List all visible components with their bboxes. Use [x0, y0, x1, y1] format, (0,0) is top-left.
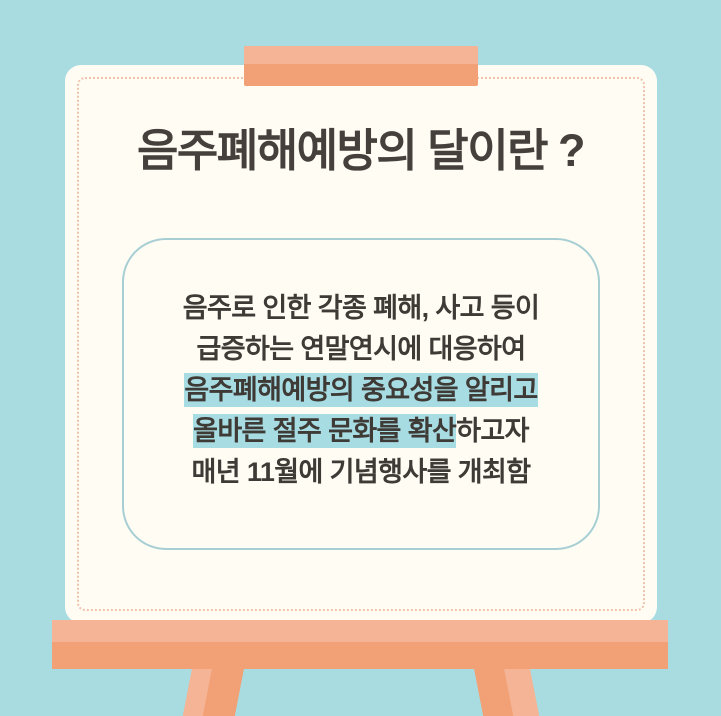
body-line-3: 음주폐해예방의 중요성을 알리고	[122, 370, 600, 411]
easel-tray	[52, 620, 668, 669]
body-line-5: 매년 11월에 기념행사를 개최함	[122, 452, 600, 493]
body-line-3-highlight: 음주폐해예방의 중요성을 알리고	[184, 373, 537, 407]
body-line-1: 음주로 인한 각종 폐해, 사고 등이	[122, 288, 600, 329]
body-line-4-highlight: 올바른 절주 문화를 확산	[193, 414, 456, 448]
body-text-block: 음주로 인한 각종 폐해, 사고 등이 급증하는 연말연시에 대응하여 음주폐해…	[122, 288, 600, 493]
clip-highlight	[244, 46, 478, 64]
clip-icon	[244, 46, 478, 86]
body-line-1-text: 음주로 인한 각종 폐해, 사고 등이	[183, 293, 540, 323]
poster-canvas: 음주폐해예방의 달이란 ? 음주로 인한 각종 폐해, 사고 등이 급증하는 연…	[0, 0, 721, 716]
body-line-2: 급증하는 연말연시에 대응하여	[122, 329, 600, 370]
body-line-4-rest: 하고자	[456, 416, 529, 446]
body-line-2-text: 급증하는 연말연시에 대응하여	[197, 334, 526, 364]
easel-tray-highlight	[52, 620, 668, 642]
page-title: 음주폐해예방의 달이란 ?	[0, 124, 721, 178]
body-line-5-text: 매년 11월에 기념행사를 개최함	[192, 457, 531, 487]
body-line-4: 올바른 절주 문화를 확산하고자	[122, 411, 600, 452]
